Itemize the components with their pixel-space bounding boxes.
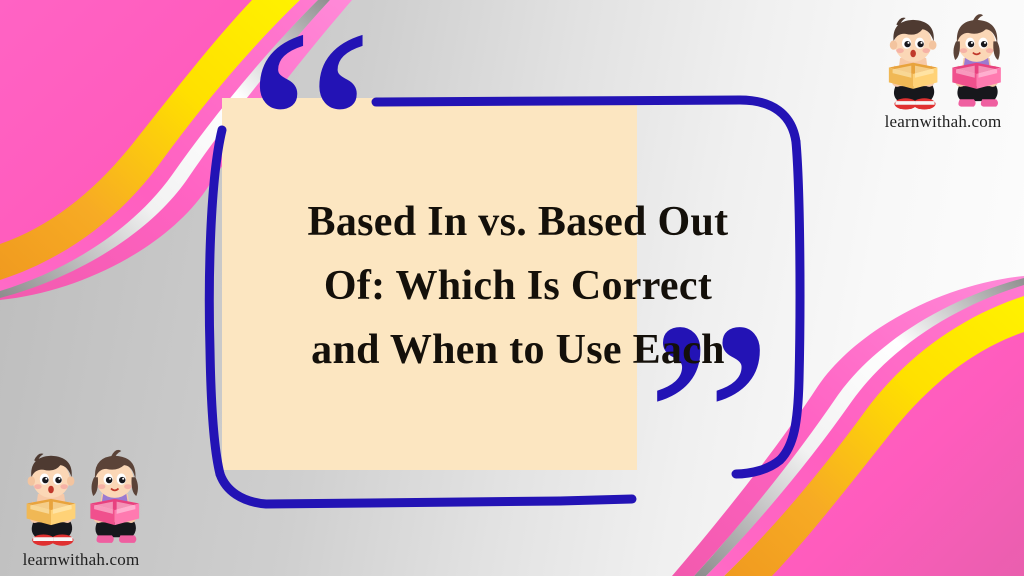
brand-name: learnwithah.com — [868, 112, 1018, 132]
graphic-canvas: “ ” Based In vs. Based Out Of: Which Is … — [0, 0, 1024, 576]
page-title: Based In vs. Based Out Of: Which Is Corr… — [238, 190, 798, 382]
title-line-2: Of: Which Is Correct — [238, 254, 798, 318]
title-line-3: and When to Use Each — [238, 318, 798, 382]
brand-logo-bottom-left: learnwithah.com — [6, 438, 156, 570]
brand-name: learnwithah.com — [6, 550, 156, 570]
title-line-1: Based In vs. Based Out — [238, 190, 798, 254]
two-kids-reading-books-icon — [868, 4, 1018, 116]
brand-logo-top-right: learnwithah.com — [868, 4, 1018, 132]
two-kids-reading-books-icon — [6, 438, 156, 554]
